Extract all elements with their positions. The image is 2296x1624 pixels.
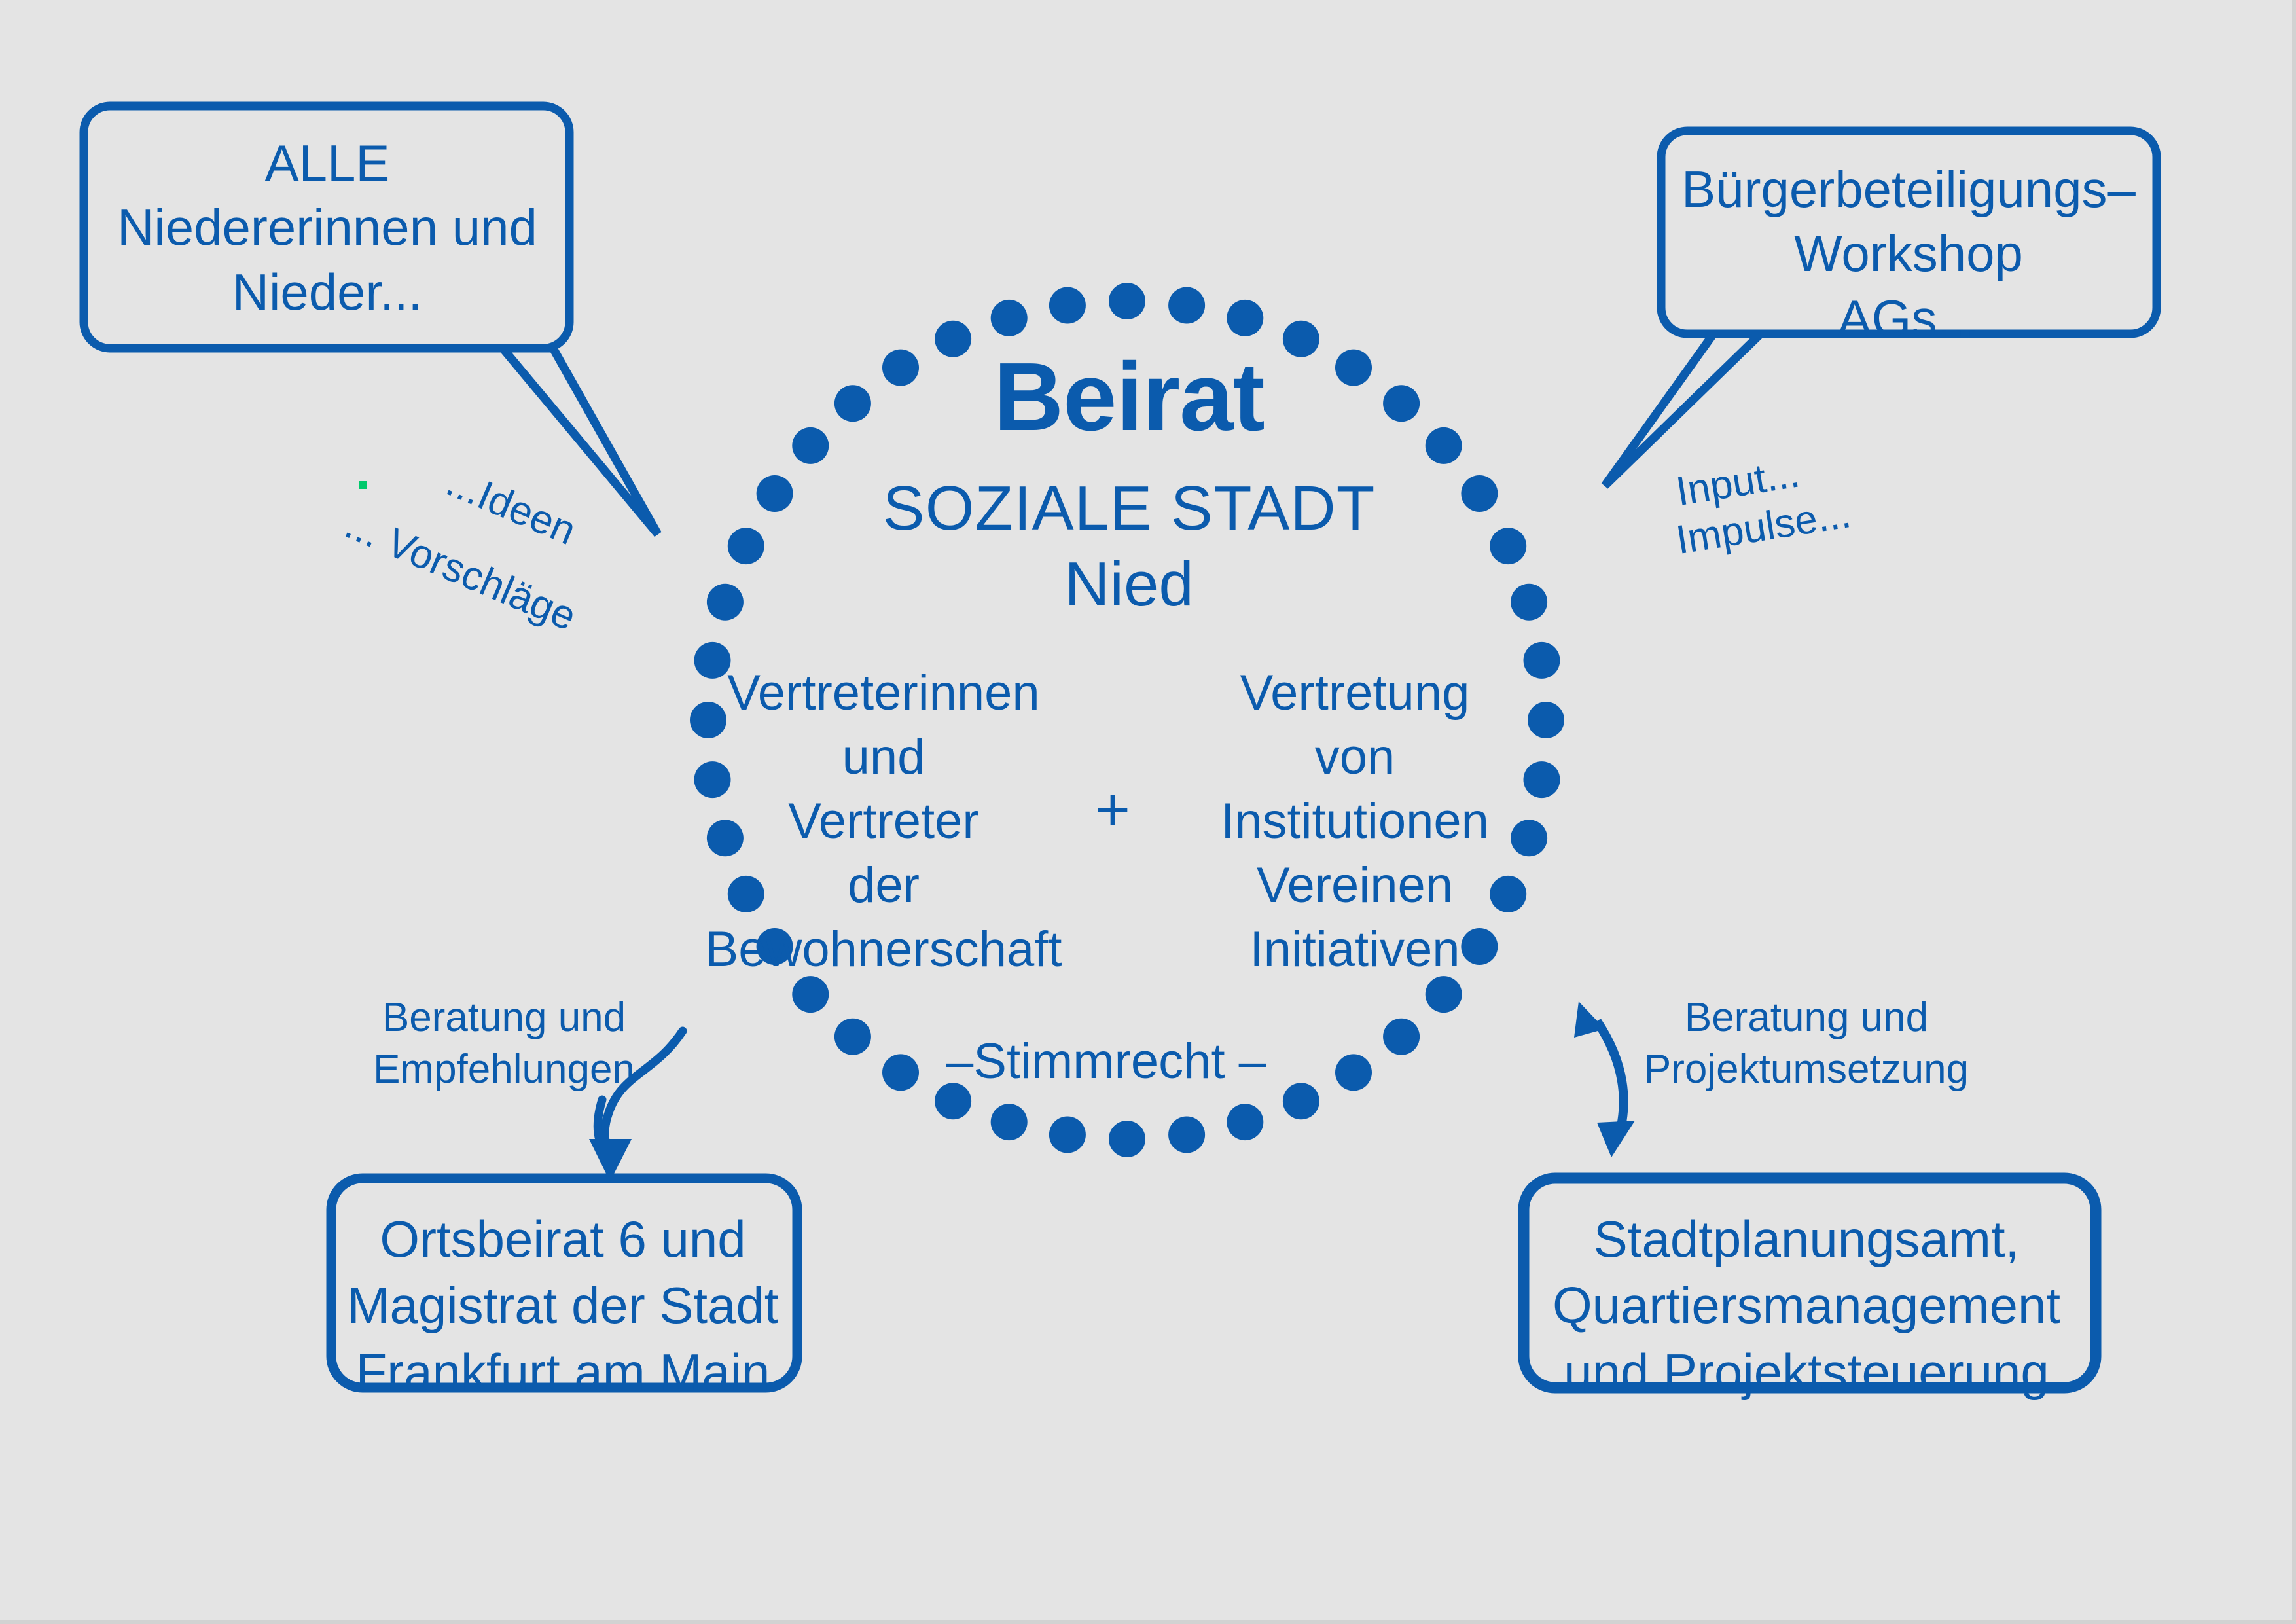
institutions-line-1: Vertretung	[1172, 661, 1538, 725]
residents-line-1: Vertreterinnen	[681, 661, 1086, 725]
arrowhead-down-right	[1597, 1121, 1635, 1157]
stadtplanungsamt-line-1: Stadtplanungsamt,	[1532, 1206, 2081, 1272]
institutions-line-3: Institutionen	[1172, 789, 1538, 854]
circle-dot	[1168, 1117, 1205, 1153]
diagram-canvas: ALLE Niedererinnen und Nieder... Bürgerb…	[0, 0, 2296, 1624]
bubble-left-line-2: Niedererinnen und	[98, 195, 556, 259]
circle-dot	[707, 584, 744, 621]
arrow-label-beratung-projektumsetzung: Beratung und Projektumsetzung	[1643, 992, 1970, 1096]
page-title: Beirat	[753, 340, 1505, 455]
residents-line-2: und	[681, 725, 1086, 789]
stadtplanungsamt-box-text: Stadtplanungsamt, Quartiersmanagement un…	[1532, 1206, 2081, 1405]
institutions-line-4: Vereinen	[1172, 854, 1538, 918]
circle-dot	[1109, 1121, 1145, 1157]
institutions-line-5: Initiativen	[1172, 918, 1538, 982]
circle-dot	[1383, 1019, 1420, 1055]
circle-dot	[1227, 1104, 1263, 1140]
circle-dot	[991, 1104, 1028, 1140]
circle-dot	[991, 300, 1028, 336]
residents-line-4: der	[681, 854, 1086, 918]
institutions-line-2: von	[1172, 725, 1538, 789]
circle-dot	[1227, 300, 1263, 336]
ortsbeirat-box-text: Ortsbeirat 6 und Magistrat der Stadt Fra…	[334, 1206, 792, 1405]
members-column-residents: Vertreterinnen und Vertreter der Bewohne…	[681, 661, 1086, 982]
circle-dot	[1049, 287, 1086, 324]
page-subtitle-line-2: Nied	[753, 547, 1505, 621]
ortsbeirat-line-2: Magistrat der Stadt	[334, 1272, 792, 1339]
green-marker-dot	[359, 481, 367, 489]
arrow-right-label-line-2: Projektumsetzung	[1643, 1043, 1970, 1095]
circle-dot	[1168, 287, 1205, 324]
bubble-right-line-2: Workshop	[1673, 221, 2144, 285]
arrow-left-label-line-2: Empfehlungen	[367, 1043, 641, 1095]
alle-niederer-bubble-text: ALLE Niedererinnen und Nieder...	[98, 131, 556, 324]
members-column-institutions: Vertretung von Institutionen Vereinen In…	[1172, 661, 1538, 982]
bubble-right-line-1: Bürgerbeteiligungs–	[1673, 157, 2144, 221]
residents-line-3: Vertreter	[681, 789, 1086, 854]
plus-operator: +	[1073, 776, 1152, 844]
buergerbeteiligung-bubble-text: Bürgerbeteiligungs– Workshop AGs...	[1673, 157, 2144, 350]
circle-dot	[1335, 1054, 1372, 1091]
ortsbeirat-line-1: Ortsbeirat 6 und	[334, 1206, 792, 1272]
circle-dot	[1109, 283, 1145, 319]
circle-dot	[834, 1019, 871, 1055]
stadtplanungsamt-line-2: Quartiersmanagement	[1532, 1272, 2081, 1339]
circle-dot	[1511, 584, 1547, 621]
arrow-left-label-line-1: Beratung und	[367, 992, 641, 1043]
beratung-projektumsetzung-arrow	[1574, 1001, 1635, 1157]
ortsbeirat-line-3: Frankfurt am Main	[334, 1339, 792, 1405]
circle-dot	[1049, 1117, 1086, 1153]
residents-line-5: Bewohnerschaft	[681, 918, 1086, 982]
stadtplanungsamt-line-3: und Projektsteuerung	[1532, 1339, 2081, 1405]
arrow-right-label-line-1: Beratung und	[1643, 992, 1970, 1043]
page-subtitle-line-1: SOZIALE STADT	[753, 471, 1505, 545]
stimmrecht-note: –Stimmrecht –	[903, 1033, 1309, 1090]
arrow-label-beratung-empfehlungen: Beratung und Empfehlungen	[367, 992, 641, 1096]
bubble-left-line-1: ALLE	[98, 131, 556, 195]
bubble-left-line-3: Nieder...	[98, 260, 556, 324]
bubble-right-line-3: AGs...	[1673, 286, 2144, 350]
